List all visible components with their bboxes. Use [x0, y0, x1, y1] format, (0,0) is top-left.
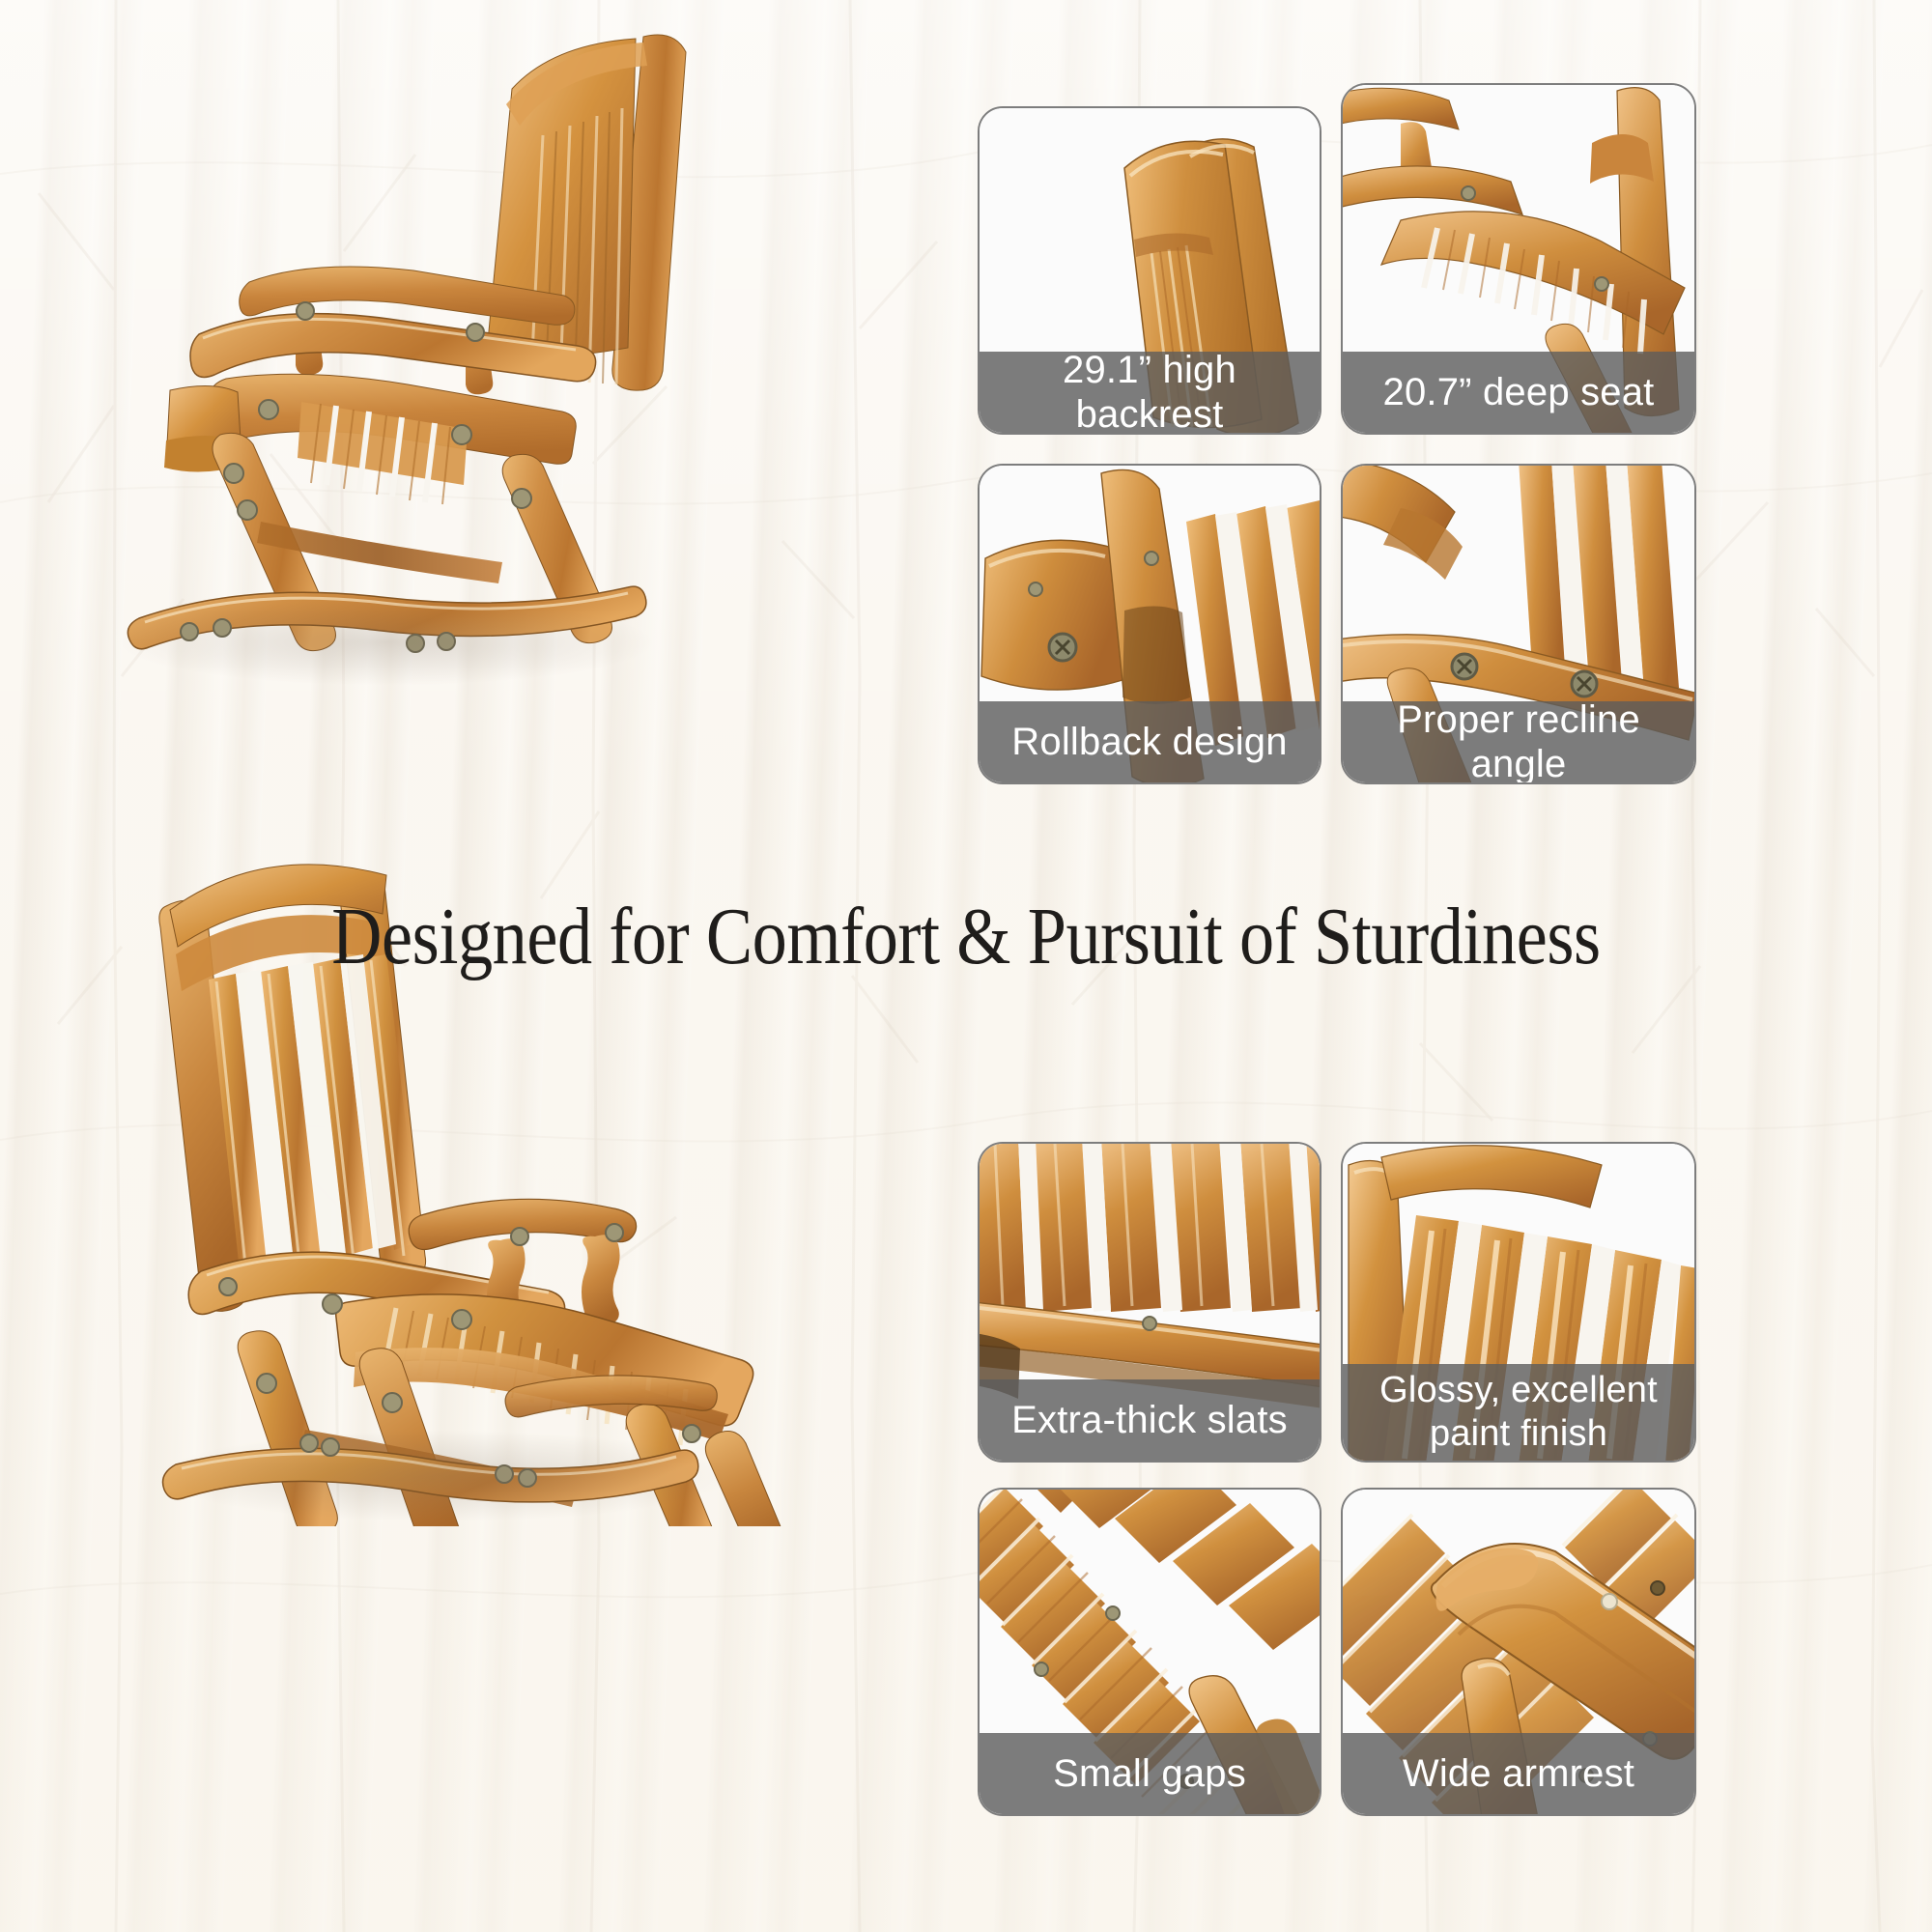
feature-card-thick-slats[interactable]: Extra-thick slats — [978, 1142, 1321, 1463]
feature-card-deep-seat[interactable]: 20.7” deep seat — [1341, 83, 1696, 435]
feature-caption-rollback-design: Rollback design — [980, 701, 1320, 782]
feature-caption-wide-armrest: Wide armrest — [1343, 1733, 1694, 1814]
feature-card-small-gaps[interactable]: Small gaps — [978, 1488, 1321, 1816]
feature-caption-thick-slats: Extra-thick slats — [980, 1379, 1320, 1461]
rocking-chair-side-illustration — [106, 19, 724, 686]
feature-card-high-backrest[interactable]: 29.1” high backrest — [978, 106, 1321, 435]
feature-caption-paint-finish: Glossy, excellent paint finish — [1343, 1364, 1694, 1461]
feature-card-paint-finish[interactable]: Glossy, excellent paint finish — [1341, 1142, 1696, 1463]
feature-card-wide-armrest[interactable]: Wide armrest — [1341, 1488, 1696, 1816]
hero-image-rocking-chair-side — [106, 19, 724, 686]
page-title: Designed for Comfort & Pursuit of Sturdi… — [135, 891, 1797, 983]
feature-card-recline-angle[interactable]: Proper recline angle — [1341, 464, 1696, 784]
feature-caption-deep-seat: 20.7” deep seat — [1343, 352, 1694, 433]
feature-card-rollback-design[interactable]: Rollback design — [978, 464, 1321, 784]
caption-line-2: paint finish — [1430, 1413, 1607, 1454]
feature-caption-small-gaps: Small gaps — [980, 1733, 1320, 1814]
chair-shadow — [155, 1430, 734, 1522]
feature-caption-recline-angle: Proper recline angle — [1343, 701, 1694, 782]
feature-caption-paint-finish-text: Glossy, excellent paint finish — [1379, 1369, 1658, 1456]
caption-line-1: Glossy, excellent — [1379, 1370, 1658, 1410]
chair-shadow — [116, 599, 657, 686]
feature-caption-high-backrest: 29.1” high backrest — [980, 352, 1320, 433]
